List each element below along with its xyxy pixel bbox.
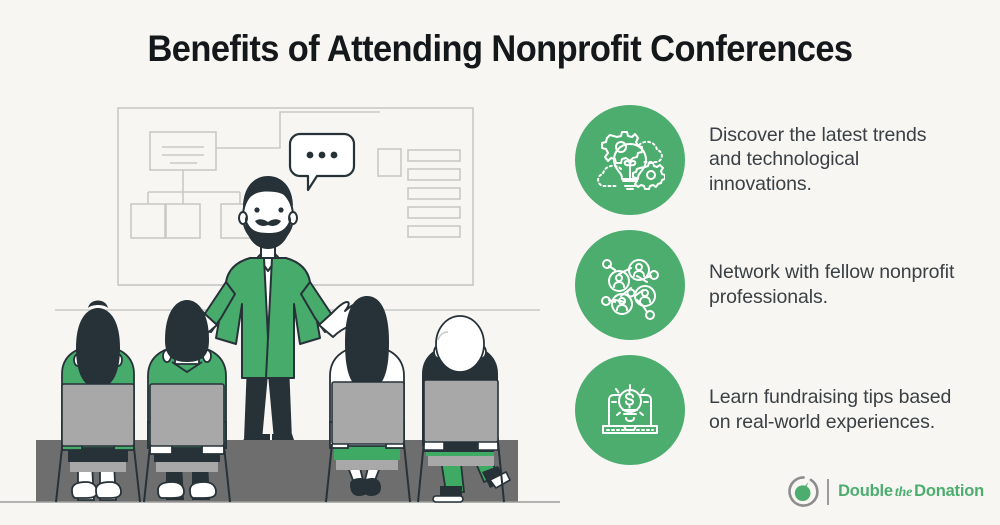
benefit-text-1: Discover the latest trends and technolog… <box>709 123 961 197</box>
lightbulb-gears-icon <box>575 105 685 215</box>
logo-divider <box>827 479 829 505</box>
logo-word-double: Double <box>838 482 893 500</box>
logo-word-the: the <box>893 485 914 500</box>
benefits-list: Discover the latest trends and technolog… <box>575 103 995 478</box>
network-people-icon <box>575 230 685 340</box>
benefit-item-1: Discover the latest trends and technolog… <box>575 103 995 216</box>
whiteboard-list <box>378 149 460 237</box>
page-title: Benefits of Attending Nonprofit Conferen… <box>35 28 965 70</box>
benefit-text-2: Network with fellow nonprofit profession… <box>709 260 961 309</box>
infographic-canvas: Benefits of Attending Nonprofit Conferen… <box>0 0 1000 525</box>
benefit-item-3: Learn fundraising tips based on real-wor… <box>575 353 995 466</box>
benefit-item-2: Network with fellow nonprofit profession… <box>575 228 995 341</box>
double-the-donation-logo[interactable]: DoubletheDonation <box>787 475 984 508</box>
conference-illustration <box>0 92 560 525</box>
speech-bubble-ellipsis <box>290 134 354 190</box>
logo-wordmark: DoubletheDonation <box>838 482 984 501</box>
logo-word-donation: Donation <box>914 482 984 500</box>
laptop-lightbulb-dollar-icon <box>575 355 685 465</box>
logo-leaf-mark <box>787 475 820 508</box>
benefit-text-3: Learn fundraising tips based on real-wor… <box>709 385 961 434</box>
